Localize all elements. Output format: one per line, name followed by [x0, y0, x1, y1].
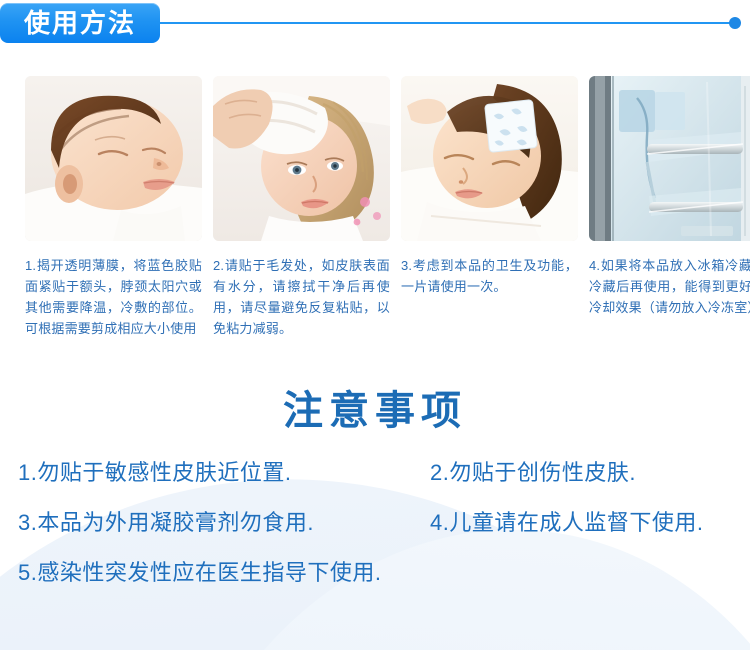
towel-compress-photo	[213, 76, 390, 241]
step-item: 4.如果将本品放入冰箱冷藏室冷藏后再使用，能得到更好的冷却效果（请勿放入冷冻室）	[589, 76, 750, 339]
notice-item: 2.勿贴于创伤性皮肤.	[430, 455, 636, 487]
step-item: 3.考虑到本品的卫生及功能，一片请使用一次。	[401, 76, 578, 339]
steps-row: 1.揭开透明薄膜，将蓝色胶贴面紧贴于额头，脖颈太阳穴或其他需要降温，冷敷的部位。…	[25, 76, 725, 339]
refrigerator-interior-photo	[589, 76, 750, 241]
notice-row: 5.感染性突发性应在医生指导下使用.	[0, 555, 750, 605]
section-title-badge: 使用方法	[0, 3, 160, 43]
notice-row: 3.本品为外用凝胶膏剂勿食用. 4.儿童请在成人监督下使用.	[0, 505, 750, 555]
step-item: 2.请贴于毛发处，如皮肤表面有水分，请擦拭干净后再使用，请尽量避免反复粘贴，以免…	[213, 76, 390, 339]
notice-item: 3.本品为外用凝胶膏剂勿食用.	[18, 505, 314, 537]
step-description: 3.考虑到本品的卫生及功能，一片请使用一次。	[401, 255, 578, 297]
sleeping-baby-photo	[25, 76, 202, 241]
section-title-label: 使用方法	[0, 3, 160, 43]
header-end-dot-icon	[729, 17, 741, 29]
notice-item: 1.勿贴于敏感性皮肤近位置.	[18, 455, 291, 487]
product-instruction-page: 使用方法	[0, 0, 750, 650]
notice-item: 5.感染性突发性应在医生指导下使用.	[18, 555, 381, 587]
step-description: 1.揭开透明薄膜，将蓝色胶贴面紧贴于额头，脖颈太阳穴或其他需要降温，冷敷的部位。…	[25, 255, 202, 339]
notice-list: 1.勿贴于敏感性皮肤近位置. 2.勿贴于创伤性皮肤. 3.本品为外用凝胶膏剂勿食…	[0, 455, 750, 605]
header-rule-line	[150, 22, 735, 24]
step-description: 2.请贴于毛发处，如皮肤表面有水分，请擦拭干净后再使用，请尽量避免反复粘贴，以免…	[213, 255, 390, 339]
notice-item: 4.儿童请在成人监督下使用.	[430, 505, 703, 537]
section-header: 使用方法	[0, 0, 750, 46]
notice-heading: 注意事项	[0, 378, 750, 436]
cooling-patch-forehead-photo	[401, 76, 578, 241]
notice-row: 1.勿贴于敏感性皮肤近位置. 2.勿贴于创伤性皮肤.	[0, 455, 750, 505]
step-item: 1.揭开透明薄膜，将蓝色胶贴面紧贴于额头，脖颈太阳穴或其他需要降温，冷敷的部位。…	[25, 76, 202, 339]
step-description: 4.如果将本品放入冰箱冷藏室冷藏后再使用，能得到更好的冷却效果（请勿放入冷冻室）	[589, 255, 750, 318]
